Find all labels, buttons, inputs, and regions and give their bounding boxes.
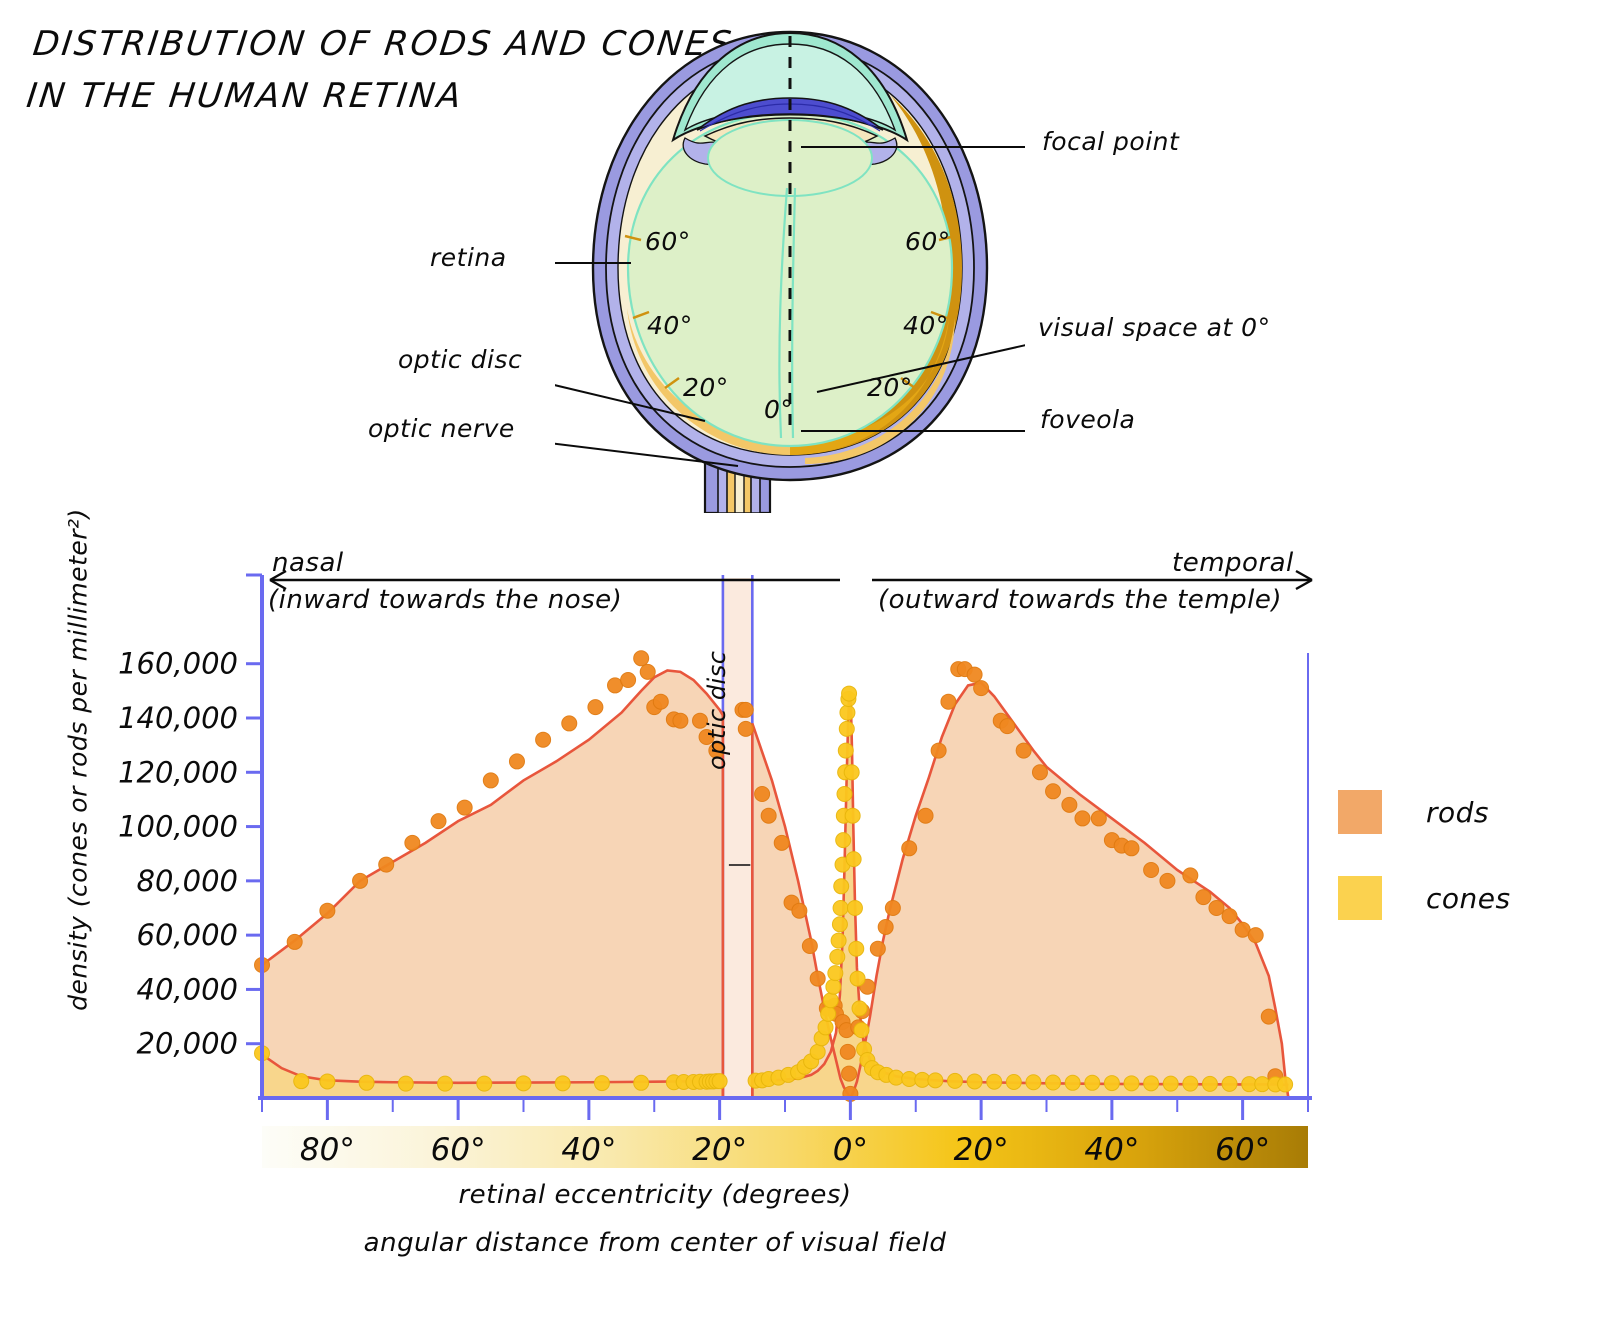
cones-data-point xyxy=(1202,1076,1217,1091)
x-tick-label-top: 60° xyxy=(431,1132,486,1168)
rods-data-point xyxy=(1222,909,1237,924)
angle-label-right-40: 40° xyxy=(903,311,949,340)
cones-data-point xyxy=(844,765,859,780)
rods-data-point xyxy=(918,808,933,823)
cones-data-point xyxy=(1104,1076,1119,1091)
cones-data-point xyxy=(828,966,843,981)
cones-data-point xyxy=(1163,1076,1178,1091)
rods-data-point xyxy=(379,857,394,872)
cones-data-point xyxy=(839,721,854,736)
cones-data-point xyxy=(823,993,838,1008)
rods-data-point xyxy=(320,903,335,918)
temporal-direction-label: temporal xyxy=(1172,548,1294,578)
cones-data-point xyxy=(1278,1077,1293,1092)
rods-data-point xyxy=(885,901,900,916)
legend-swatch-rods xyxy=(1338,790,1382,834)
callout-foveola: foveola xyxy=(1040,405,1135,434)
cones-data-point xyxy=(826,979,841,994)
legend-item-cones[interactable]: cones xyxy=(1338,876,1511,920)
legend-label-rods: rods xyxy=(1426,796,1489,829)
rods-data-point xyxy=(774,835,789,850)
angle-label-left-20: 20° xyxy=(683,373,729,402)
x-tick-label-top: 40° xyxy=(1084,1132,1139,1168)
y-axis-title: density (cones or rods per millimeter²) xyxy=(64,500,93,1020)
cones-data-point xyxy=(842,686,857,701)
rods-data-point xyxy=(870,941,885,956)
rods-data-point xyxy=(1075,811,1090,826)
rods-data-point xyxy=(1046,784,1061,799)
cones-data-point xyxy=(928,1073,943,1088)
cones-data-point xyxy=(832,917,847,932)
cones-data-point xyxy=(1006,1074,1021,1089)
rods-data-point xyxy=(405,835,420,850)
cones-data-point xyxy=(438,1076,453,1091)
rods-data-point xyxy=(1062,797,1077,812)
rods-data-point xyxy=(802,939,817,954)
cones-data-point xyxy=(834,879,849,894)
rods-data-point xyxy=(653,694,668,709)
cones-data-point xyxy=(1085,1075,1100,1090)
cones-data-point xyxy=(1144,1076,1159,1091)
temporal-direction-sublabel: (outward towards the temple) xyxy=(878,585,1282,615)
nasal-direction-label: nasal xyxy=(272,548,344,578)
angle-label-center-0: 0° xyxy=(764,395,793,424)
y-tick-label: 20,000 xyxy=(137,1027,238,1061)
cones-data-point xyxy=(634,1075,649,1090)
x-tick-label-top: 20° xyxy=(692,1132,747,1168)
cones-data-point xyxy=(477,1076,492,1091)
rods-data-point xyxy=(840,1044,855,1059)
cones-data-point xyxy=(847,901,862,916)
y-tick-label: 60,000 xyxy=(137,918,238,952)
x-axis-title: retinal eccentricity (degrees) xyxy=(0,1180,1310,1210)
cones-data-point xyxy=(830,949,845,964)
y-tick-label: 120,000 xyxy=(118,755,238,789)
angle-label-left-40: 40° xyxy=(647,311,693,340)
cones-data-point xyxy=(712,1074,727,1089)
y-tick-label: 160,000 xyxy=(118,647,238,681)
callout-optic-nerve: optic nerve xyxy=(368,414,515,443)
cones-data-point xyxy=(837,787,852,802)
cones-data-point xyxy=(987,1074,1002,1089)
angle-label-right-20: 20° xyxy=(867,373,913,402)
rods-data-point xyxy=(1261,1009,1276,1024)
cones-data-point xyxy=(294,1074,309,1089)
chart-legend: rods cones xyxy=(1338,790,1511,962)
rods-data-point xyxy=(457,800,472,815)
eye-cross-section-diagram: 60° 40° 20° 60° 40° 20° 0° xyxy=(555,18,1025,513)
legend-item-rods[interactable]: rods xyxy=(1338,790,1511,834)
cones-data-point xyxy=(845,808,860,823)
x-tick-label-top: 20° xyxy=(954,1132,1009,1168)
nasal-direction-sublabel: (inward towards the nose) xyxy=(268,585,622,615)
cones-data-point xyxy=(967,1074,982,1089)
rods-data-point xyxy=(761,808,776,823)
rods-data-point xyxy=(287,934,302,949)
cones-data-point xyxy=(320,1074,335,1089)
cones-data-point xyxy=(1222,1076,1237,1091)
rods-data-point xyxy=(634,651,649,666)
cones-data-point xyxy=(555,1076,570,1091)
x-tick-label-top: 80° xyxy=(300,1132,355,1168)
legend-swatch-cones xyxy=(1338,876,1382,920)
cones-data-point xyxy=(594,1076,609,1091)
cones-data-point xyxy=(1183,1076,1198,1091)
rods-data-point xyxy=(1160,873,1175,888)
cones-data-point xyxy=(849,941,864,956)
rods-data-point xyxy=(1209,901,1224,916)
cones-data-point xyxy=(840,705,855,720)
cones-data-point xyxy=(810,1044,825,1059)
cones-data-point xyxy=(831,933,846,948)
y-tick-label: 100,000 xyxy=(118,810,238,844)
rods-data-point xyxy=(1196,890,1211,905)
y-tick-label: 80,000 xyxy=(137,864,238,898)
rods-data-point xyxy=(640,664,655,679)
angle-label-left-60: 60° xyxy=(645,227,691,256)
cones-data-point xyxy=(947,1073,962,1088)
rods-data-point xyxy=(792,903,807,918)
x-tick-label-top: 60° xyxy=(1215,1132,1270,1168)
rods-data-point xyxy=(931,743,946,758)
callout-retina: retina xyxy=(430,243,507,272)
cones-data-point xyxy=(359,1075,374,1090)
x-tick-label-top: 40° xyxy=(561,1132,616,1168)
eccentricity-gradient-bar xyxy=(262,1126,1308,1168)
cones-data-point xyxy=(821,1006,836,1021)
cones-data-point xyxy=(836,833,851,848)
cones-data-point xyxy=(516,1076,531,1091)
cones-data-point xyxy=(850,971,865,986)
rods-data-point xyxy=(621,673,636,688)
cones-data-point xyxy=(838,743,853,758)
cones-data-point xyxy=(398,1076,413,1091)
rods-data-point xyxy=(878,920,893,935)
cones-data-point xyxy=(1046,1075,1061,1090)
cones-data-point xyxy=(1026,1075,1041,1090)
rods-data-point xyxy=(974,681,989,696)
rods-data-point xyxy=(738,721,753,736)
rods-data-point xyxy=(1248,928,1263,943)
rods-data-point xyxy=(902,841,917,856)
rods-data-point xyxy=(755,787,770,802)
rods-data-point xyxy=(588,700,603,715)
cones-data-point xyxy=(1124,1076,1139,1091)
rods-data-point xyxy=(509,754,524,769)
rods-data-point xyxy=(673,713,688,728)
legend-label-cones: cones xyxy=(1426,882,1511,915)
rods-data-point xyxy=(967,667,982,682)
rods-data-point xyxy=(353,873,368,888)
rods-data-point xyxy=(562,716,577,731)
rods-data-point xyxy=(1183,868,1198,883)
callout-focal-point: focal point xyxy=(1042,127,1179,156)
angle-label-right-60: 60° xyxy=(905,227,951,256)
rods-area xyxy=(262,671,1288,1099)
y-tick-label: 40,000 xyxy=(137,972,238,1006)
rods-data-point xyxy=(1091,811,1106,826)
rods-data-point xyxy=(1124,841,1139,856)
cones-data-point xyxy=(846,852,861,867)
rods-data-point xyxy=(1000,719,1015,734)
cones-data-point xyxy=(818,1020,833,1035)
cones-data-point xyxy=(833,901,848,916)
callout-visual-space: visual space at 0° xyxy=(1038,313,1271,342)
optic-disc-band-label: optic disc xyxy=(703,651,731,770)
rods-data-point xyxy=(1144,863,1159,878)
rods-data-point xyxy=(1032,765,1047,780)
rods-data-point xyxy=(483,773,498,788)
y-tick-label: 140,000 xyxy=(118,701,238,735)
rods-data-point xyxy=(810,971,825,986)
cones-data-point xyxy=(1065,1075,1080,1090)
rods-data-point xyxy=(738,702,753,717)
rods-data-point xyxy=(941,694,956,709)
cones-data-point xyxy=(854,1023,869,1038)
cones-data-point xyxy=(852,1001,867,1016)
rods-data-point xyxy=(1016,743,1031,758)
rods-data-point xyxy=(431,814,446,829)
rods-data-point xyxy=(536,732,551,747)
callout-optic-disc: optic disc xyxy=(398,345,522,374)
rods-data-point xyxy=(842,1066,857,1081)
x-axis-subtitle: angular distance from center of visual f… xyxy=(0,1228,1310,1258)
x-tick-label-top: 0° xyxy=(833,1132,868,1168)
